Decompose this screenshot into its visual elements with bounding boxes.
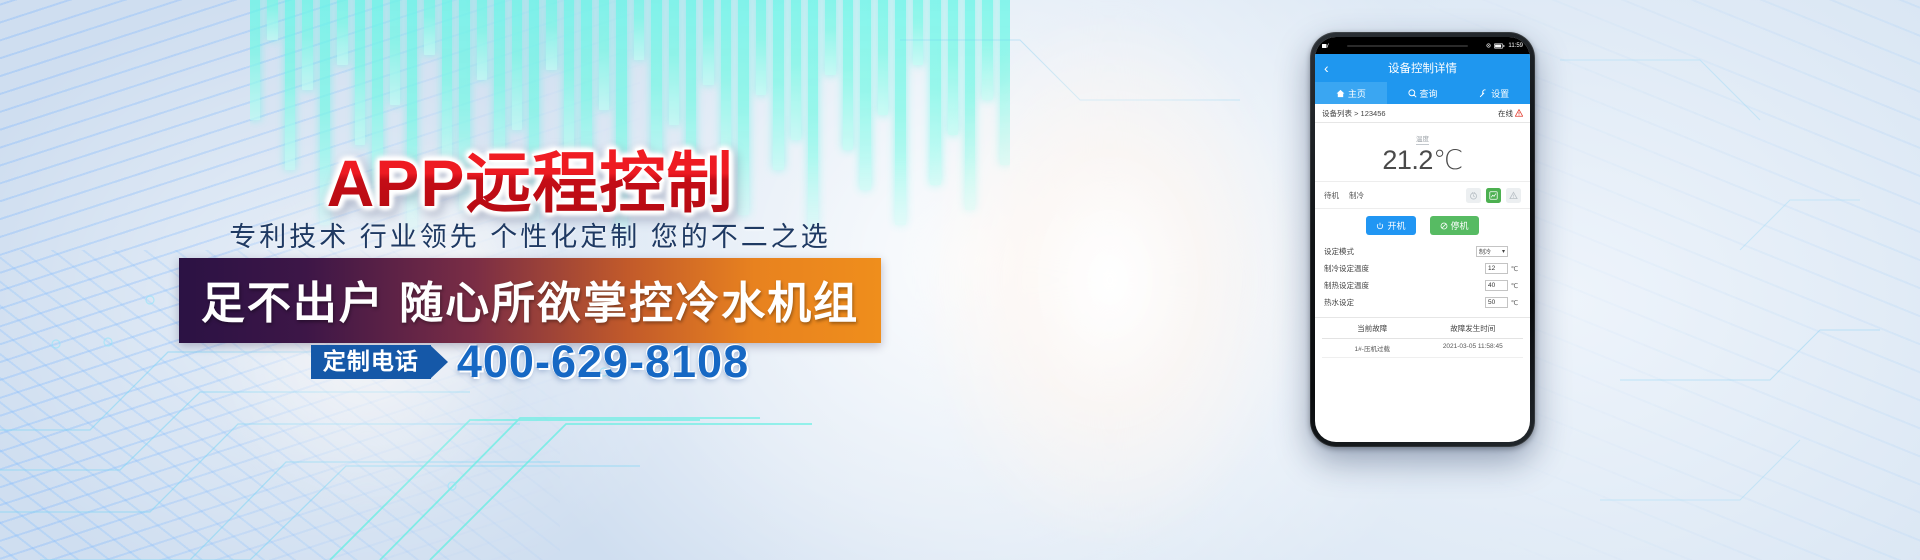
power-off-button[interactable]: 停机 <box>1430 216 1479 235</box>
fault-cell-name: 1#-压机过载 <box>1322 343 1423 353</box>
tab-home-label: 主页 <box>1348 87 1366 100</box>
tab-query[interactable]: 查询 <box>1387 82 1459 104</box>
status-bar-time: 11:59 <box>1508 43 1523 49</box>
home-icon <box>1336 89 1345 98</box>
mode-icon-buttons <box>1466 188 1521 203</box>
hero-subtitle: 专利技术 行业领先 个性化定制 您的不二之选 <box>0 215 1060 254</box>
setting-label-hot-water: 热水设定 <box>1324 297 1485 308</box>
status-badge-label: 在线 <box>1498 108 1513 119</box>
page-title: APP远程控制 <box>0 130 1060 226</box>
tab-home[interactable]: 主页 <box>1315 82 1387 104</box>
setting-unit-hot-water: ℃ <box>1508 299 1521 307</box>
breadcrumb-text[interactable]: 设备列表 > 123456 <box>1322 108 1386 119</box>
app-title: 设备控制详情 <box>1315 60 1530 76</box>
setting-input-heat-temp[interactable]: 40 <box>1485 280 1508 291</box>
tab-bar: 主页 查询 设置 <box>1315 82 1530 104</box>
chart-icon <box>1489 191 1498 200</box>
phone-screen: 11:59 ‹ 设备控制详情 主页 查询 设置 <box>1315 37 1530 442</box>
fault-col-time: 故障发生时间 <box>1423 323 1524 334</box>
setting-row-mode: 设定模式 制冷 ▾ <box>1324 243 1521 260</box>
breadcrumb: 设备列表 > 123456 在线 <box>1315 104 1530 123</box>
temperature-display: 温度 21.2℃ <box>1315 123 1530 182</box>
search-icon <box>1408 89 1417 98</box>
temperature-label: 温度 <box>1416 133 1429 145</box>
status-badge: 在线 <box>1498 108 1523 119</box>
battery-icon <box>1494 43 1505 49</box>
timer-icon <box>1469 191 1478 200</box>
tab-settings-label: 设置 <box>1491 87 1509 100</box>
machine-mode-label: 制冷 <box>1349 190 1364 201</box>
setting-unit-heat-temp: ℃ <box>1508 282 1521 290</box>
contact-phone-tag: 定制电话 <box>311 345 431 379</box>
hero-band-wrapper: 足不出户 随心所欲掌控冷水机组 <box>0 258 1060 343</box>
chevron-down-icon: ▾ <box>1502 248 1505 255</box>
timer-icon-button[interactable] <box>1466 188 1481 203</box>
wrench-icon <box>1479 89 1488 98</box>
setting-row-cool-temp: 制冷设定温度 12 ℃ <box>1324 260 1521 277</box>
setting-row-heat-temp: 制热设定温度 40 ℃ <box>1324 277 1521 294</box>
table-row[interactable]: 1#-压机过载 2021-03-05 11:58:45 <box>1322 339 1523 358</box>
sim-card-icon <box>1322 43 1329 49</box>
power-action-row: 开机 停机 <box>1315 209 1530 243</box>
power-on-button[interactable]: 开机 <box>1366 216 1415 235</box>
status-bar: 11:59 <box>1315 37 1530 54</box>
fault-table-header: 当前故障 故障发生时间 <box>1322 318 1523 339</box>
alarm-triangle-icon-button[interactable] <box>1506 188 1521 203</box>
location-icon <box>1486 43 1491 49</box>
setting-row-hot-water: 热水设定 50 ℃ <box>1324 294 1521 311</box>
alarm-triangle-icon <box>1509 191 1518 200</box>
notch-speaker <box>1347 45 1468 47</box>
app-title-bar: ‹ 设备控制详情 <box>1315 54 1530 82</box>
power-on-label: 开机 <box>1387 219 1405 232</box>
temperature-value: 21.2℃ <box>1315 146 1530 174</box>
fault-cell-time: 2021-03-05 11:58:45 <box>1423 343 1524 353</box>
power-icon <box>1376 222 1384 230</box>
setting-label-cool-temp: 制冷设定温度 <box>1324 263 1485 274</box>
status-bar-left <box>1322 43 1329 49</box>
stop-icon <box>1440 222 1448 230</box>
hero-band-text: 足不出户 随心所欲掌控冷水机组 <box>179 258 881 343</box>
mode-status-row: 待机 制冷 <box>1315 182 1530 209</box>
setting-label-heat-temp: 制热设定温度 <box>1324 280 1485 291</box>
setting-unit-cool-temp: ℃ <box>1508 265 1521 273</box>
power-off-label: 停机 <box>1451 219 1469 232</box>
chart-icon-button[interactable] <box>1486 188 1501 203</box>
contact-phone-block: 定制电话 400-629-8108 <box>0 336 1060 388</box>
setting-value-mode: 制冷 <box>1479 247 1491 256</box>
contact-phone-number: 400-629-8108 <box>457 336 749 388</box>
setting-select-mode[interactable]: 制冷 ▾ <box>1476 246 1508 257</box>
status-bar-right: 11:59 <box>1486 43 1523 49</box>
machine-state-label: 待机 <box>1324 190 1339 201</box>
hero-text-block: APP远程控制 专利技术 行业领先 个性化定制 您的不二之选 足不出户 随心所欲… <box>0 0 1060 560</box>
tab-query-label: 查询 <box>1420 87 1438 100</box>
warning-triangle-icon <box>1515 109 1523 117</box>
tab-settings[interactable]: 设置 <box>1458 82 1530 104</box>
setting-input-cool-temp[interactable]: 12 <box>1485 263 1508 274</box>
fault-col-name: 当前故障 <box>1322 323 1423 334</box>
setting-input-hot-water[interactable]: 50 <box>1485 297 1508 308</box>
fault-table: 当前故障 故障发生时间 1#-压机过载 2021-03-05 11:58:45 <box>1315 317 1530 358</box>
settings-list: 设定模式 制冷 ▾ 制冷设定温度 12 ℃ 制热设定温度 40 ℃ <box>1315 243 1530 311</box>
promo-banner: APP远程控制 专利技术 行业领先 个性化定制 您的不二之选 足不出户 随心所欲… <box>0 0 1920 560</box>
setting-label-mode: 设定模式 <box>1324 246 1476 257</box>
phone-mockup: 11:59 ‹ 设备控制详情 主页 查询 设置 <box>1310 32 1535 447</box>
